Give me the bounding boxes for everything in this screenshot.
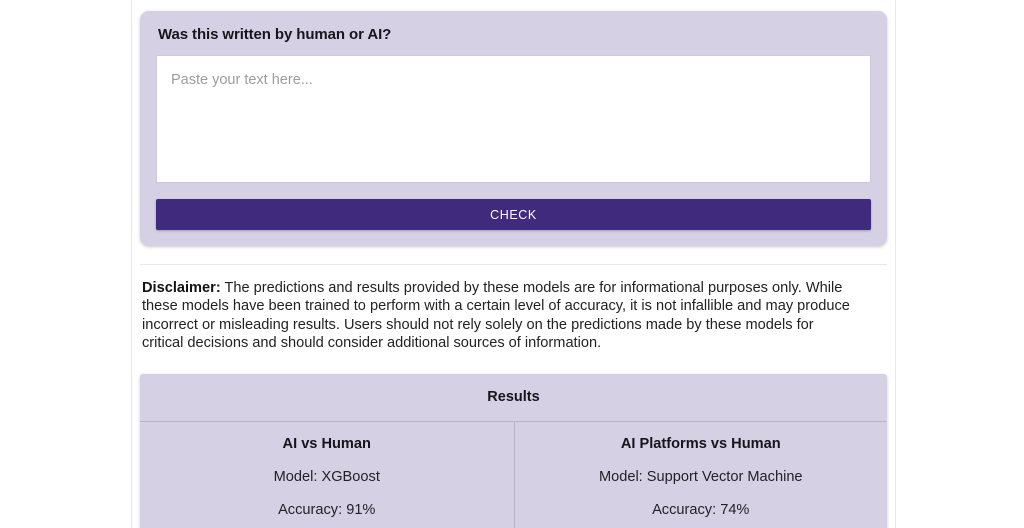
results-cell-ai-vs-human: AI vs Human Model: XGBoost Accuracy: 91% [140,422,514,528]
detector-form-card: Was this written by human or AI? CHECK [140,11,887,246]
result-accuracy: Accuracy: 74% [525,502,878,518]
content-column: Was this written by human or AI? CHECK D… [132,0,895,528]
form-title: Was this written by human or AI? [158,26,871,43]
section-divider [140,264,887,265]
result-model: Model: XGBoost [150,469,504,485]
content-column-right-rule [895,0,896,528]
results-table: Results AI vs Human Model: XGBoost Accur… [140,374,887,528]
check-button[interactable]: CHECK [156,199,871,230]
result-model: Model: Support Vector Machine [525,469,878,485]
results-row: AI vs Human Model: XGBoost Accuracy: 91%… [140,422,887,528]
text-input[interactable] [156,55,871,183]
disclaimer: Disclaimer: The predictions and results … [142,279,854,353]
app-page: Was this written by human or AI? CHECK D… [0,0,1024,528]
result-title: AI Platforms vs Human [525,436,878,452]
results-header: Results [140,374,887,422]
disclaimer-text: The predictions and results provided by … [142,280,850,351]
disclaimer-label: Disclaimer: [142,280,221,296]
results-cell-ai-platforms-vs-human: AI Platforms vs Human Model: Support Vec… [514,422,888,528]
result-accuracy: Accuracy: 91% [150,502,504,518]
result-title: AI vs Human [150,436,504,452]
